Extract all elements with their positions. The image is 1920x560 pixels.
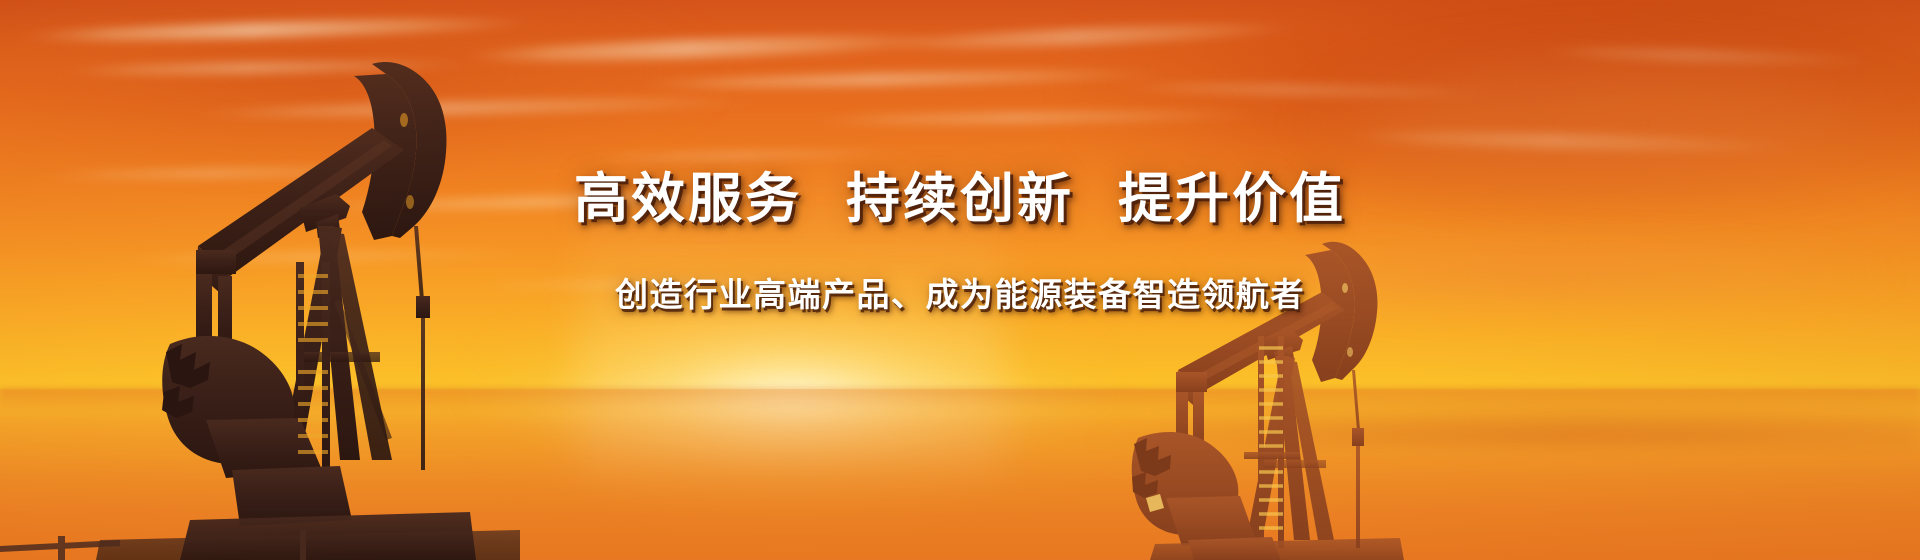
horizon-glow — [407, 389, 1175, 535]
headline-phrase-2: 持续创新 — [846, 169, 1074, 229]
headline-phrase-3: 提升价值 — [1118, 169, 1346, 229]
hero-banner: 高效服务持续创新提升价值 创造行业高端产品、成为能源装备智造领航者 — [0, 0, 1920, 560]
headline-phrase-1: 高效服务 — [574, 169, 802, 229]
banner-subline: 创造行业高端产品、成为能源装备智造领航者 — [0, 268, 1920, 316]
banner-copy: 高效服务持续创新提升价值 创造行业高端产品、成为能源装备智造领航者 — [0, 168, 1920, 316]
banner-headline: 高效服务持续创新提升价值 — [0, 168, 1920, 232]
right-hill — [1075, 395, 1920, 445]
